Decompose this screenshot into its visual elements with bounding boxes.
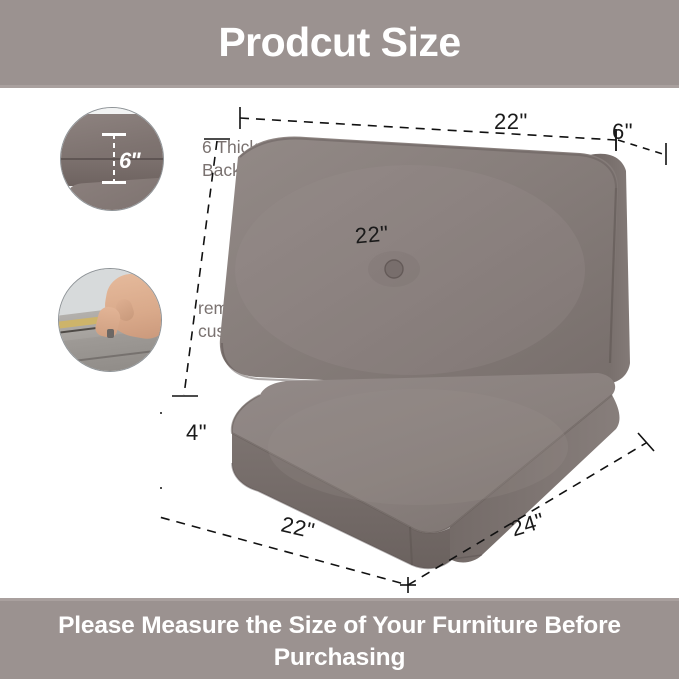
page-title: Prodcut Size xyxy=(218,22,460,63)
product-illustration xyxy=(160,95,679,595)
footer-message: Please Measure the Size of Your Furnitur… xyxy=(0,610,679,673)
back-cushion xyxy=(220,137,630,392)
footer-banner: Please Measure the Size of Your Furnitur… xyxy=(0,598,679,679)
measure-cap-bottom xyxy=(102,181,126,184)
product-size-infographic: Prodcut Size 6" 6 Thick Back cushion xyxy=(0,0,679,679)
dimension-back-height xyxy=(172,139,230,396)
dimension-label-back-thickness: 6" xyxy=(612,119,633,145)
seat-cushion-shading xyxy=(268,389,568,505)
dimension-label-back-width: 22" xyxy=(494,109,528,135)
dimension-seat-thickness xyxy=(160,413,162,488)
dimension-label-back-height: 22" xyxy=(354,221,390,250)
measure-dashed-line xyxy=(113,134,115,182)
dimension-corner-tick xyxy=(400,577,416,593)
dimension-label-seat-thickness: 4" xyxy=(186,420,207,446)
removable-cover-zipper-photo xyxy=(58,268,162,372)
zipper-slider xyxy=(107,329,114,338)
back-cushion-thickness-photo: 6" xyxy=(60,107,164,211)
thickness-measure-marker xyxy=(113,134,115,182)
cushion-seam-line xyxy=(61,158,163,160)
header-banner: Prodcut Size xyxy=(0,0,679,88)
tufting-dimple xyxy=(368,251,420,287)
inset-thickness-value: 6" xyxy=(119,148,140,174)
